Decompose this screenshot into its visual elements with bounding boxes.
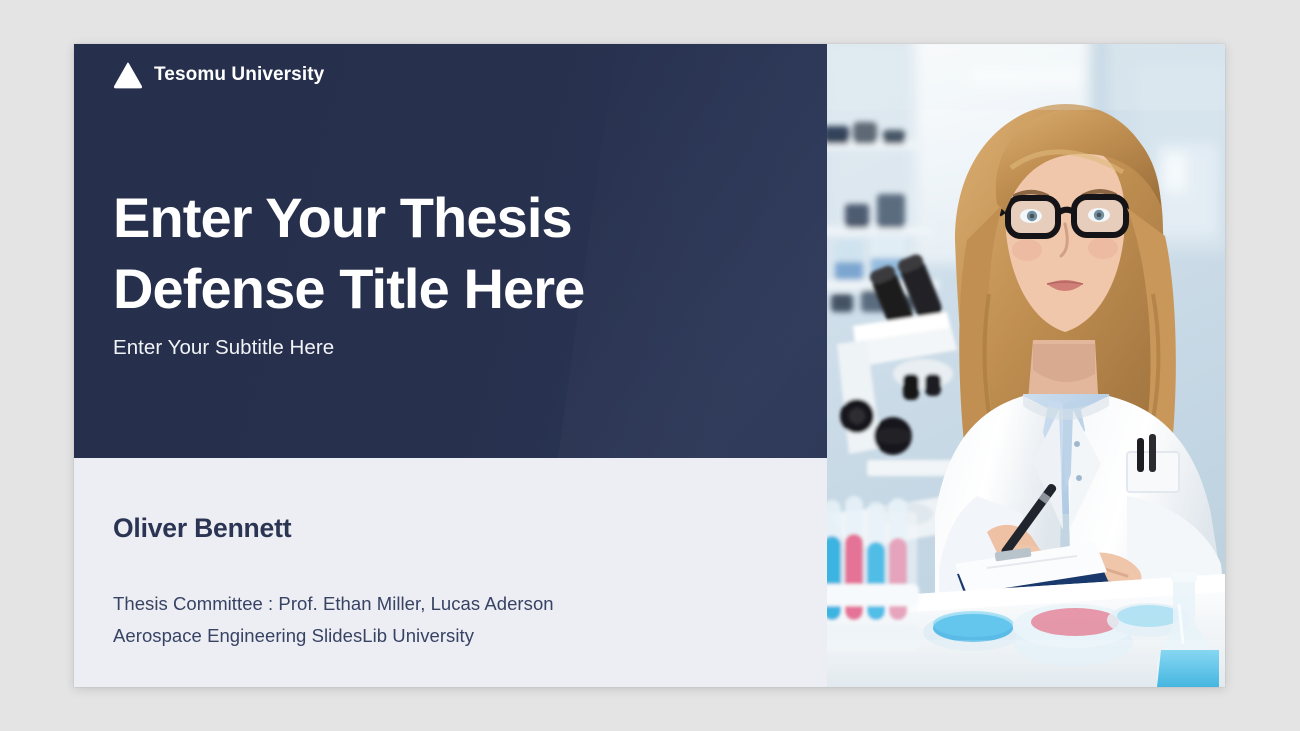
page-title-line-2: Defense Title Here <box>113 254 753 325</box>
presenter-name: Oliver Bennett <box>113 513 291 544</box>
title-slide: Tesomu University Enter Your Thesis Defe… <box>74 44 1225 687</box>
presenter-meta: Thesis Committee : Prof. Ethan Miller, L… <box>113 588 554 652</box>
brand-name: Tesomu University <box>154 64 324 86</box>
triangle-logo-icon <box>113 61 143 89</box>
page-title-line-1: Enter Your Thesis <box>113 183 753 254</box>
slide-footer-band: Oliver Bennett Thesis Committee : Prof. … <box>74 458 827 687</box>
page-title: Enter Your Thesis Defense Title Here <box>113 183 753 324</box>
thesis-committee-line: Thesis Committee : Prof. Ethan Miller, L… <box>113 588 554 620</box>
page-subtitle: Enter Your Subtitle Here <box>113 336 334 360</box>
brand-lockup: Tesomu University <box>113 61 324 89</box>
laboratory-scientist-photo <box>827 44 1225 687</box>
department-line: Aerospace Engineering SlidesLib Universi… <box>113 620 554 652</box>
slide-left-column: Tesomu University Enter Your Thesis Defe… <box>74 44 827 687</box>
slide-hero-panel: Tesomu University Enter Your Thesis Defe… <box>74 44 827 458</box>
